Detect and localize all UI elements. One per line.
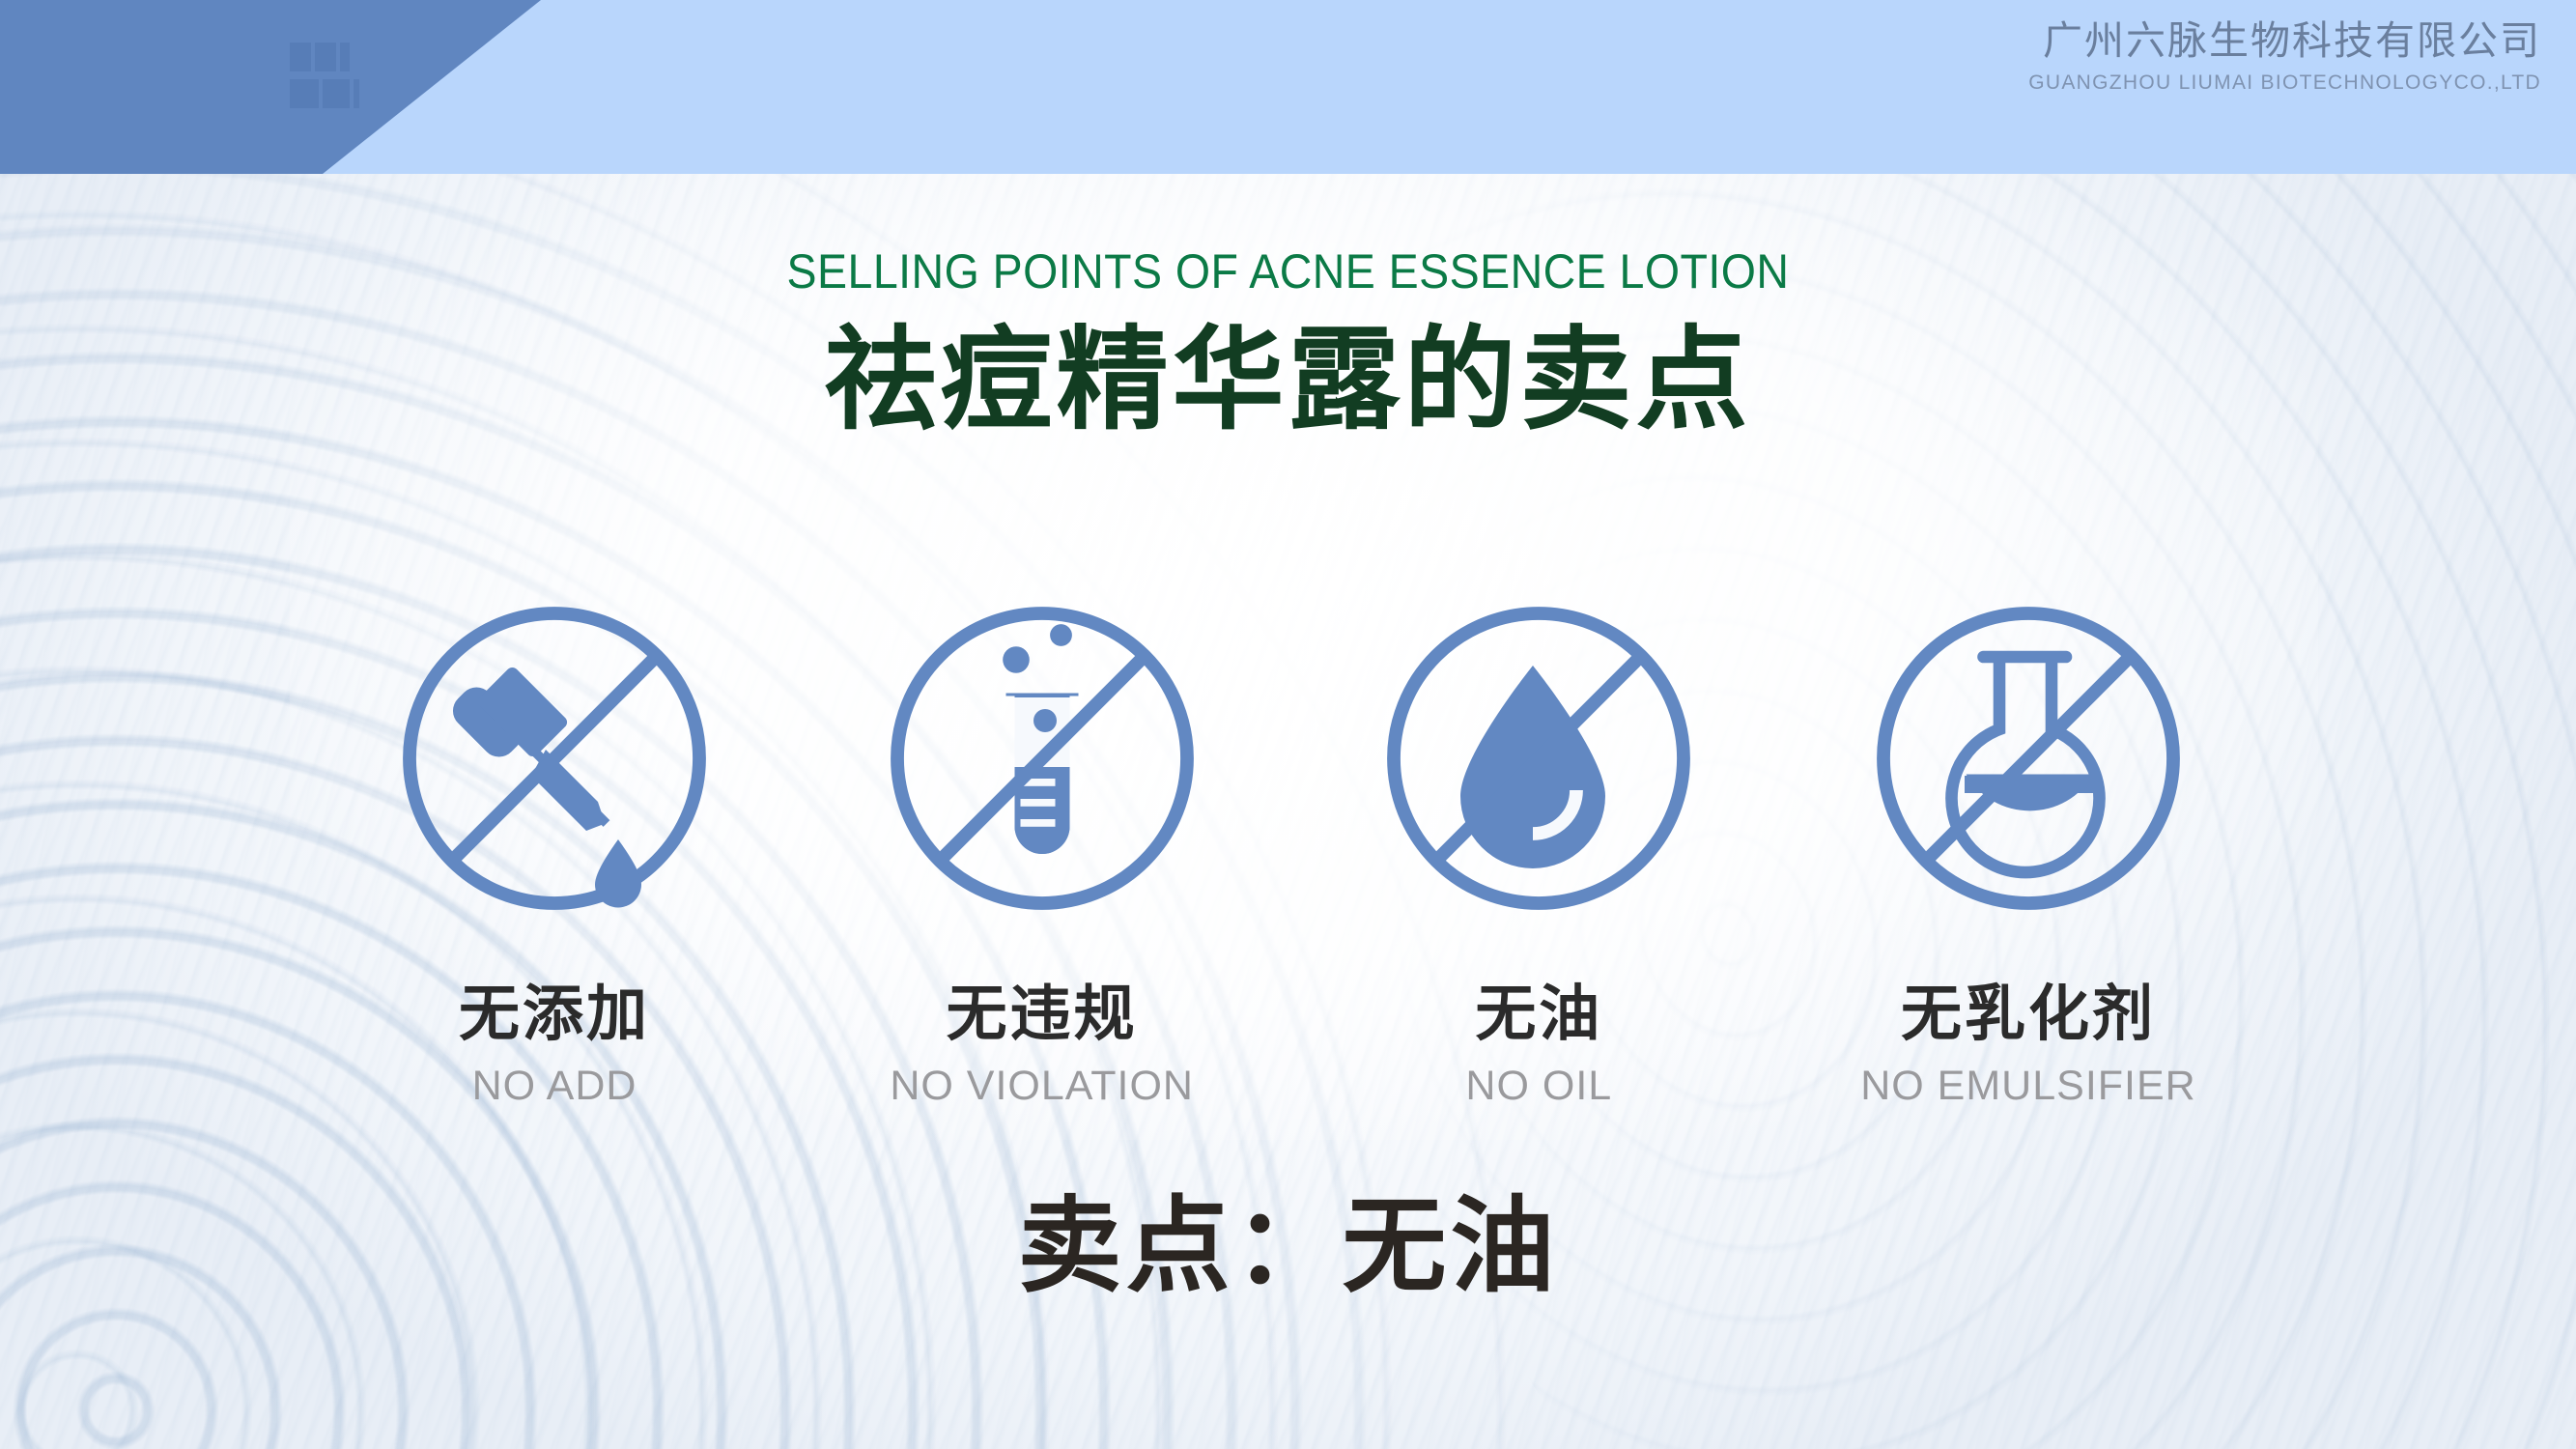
company-name-chinese: 广州六脉生物科技有限公司: [2028, 21, 2541, 61]
page-title: 祛痘精华露的卖点: [0, 315, 2576, 447]
feature-item-no-emulsifier: 无乳化剂 NO EMULSIFIER: [1835, 599, 2222, 1107]
feature-label-english: NO OIL: [1465, 1065, 1612, 1107]
header-band: 广州六脉生物科技有限公司 GUANGZHOU LIUMAI BIOTECHNOL…: [0, 0, 2576, 174]
feature-label-chinese: 无违规: [947, 983, 1138, 1044]
subtitle-english: SELLING POINTS OF ACNE ESSENCE LOTION: [90, 243, 2485, 299]
feature-label-english: NO ADD: [472, 1065, 637, 1107]
company-logo-mark-icon: [288, 41, 377, 114]
feature-label-english: NO EMULSIFIER: [1860, 1065, 2196, 1107]
feature-item-no-add: 无添加 NO ADD: [361, 599, 748, 1107]
no-dropper-icon: [395, 599, 714, 918]
feature-label-chinese: 无油: [1475, 983, 1602, 1044]
no-test-tube-icon: [883, 599, 1202, 918]
company-name-english: GUANGZHOU LIUMAI BIOTECHNOLOGYCO.,LTD: [2028, 72, 2541, 93]
no-flask-icon: [1869, 599, 2188, 918]
feature-item-no-violation: 无违规 NO VIOLATION: [849, 599, 1235, 1107]
feature-label-english: NO VIOLATION: [890, 1065, 1194, 1107]
feature-item-no-oil: 无油 NO OIL: [1345, 599, 1732, 1107]
no-oil-droplet-icon: [1379, 599, 1698, 918]
feature-label-chinese: 无添加: [459, 983, 650, 1044]
footer-headline: 卖点：无油: [0, 1190, 2576, 1305]
feature-label-chinese: 无乳化剂: [1901, 983, 2156, 1044]
company-identity: 广州六脉生物科技有限公司 GUANGZHOU LIUMAI BIOTECHNOL…: [2028, 21, 2541, 93]
feature-row: 无添加 NO ADD: [367, 599, 2222, 1107]
title-block: SELLING POINTS OF ACNE ESSENCE LOTION 祛痘…: [0, 243, 2576, 447]
slide-root: 广州六脉生物科技有限公司 GUANGZHOU LIUMAI BIOTECHNOL…: [0, 0, 2576, 1449]
